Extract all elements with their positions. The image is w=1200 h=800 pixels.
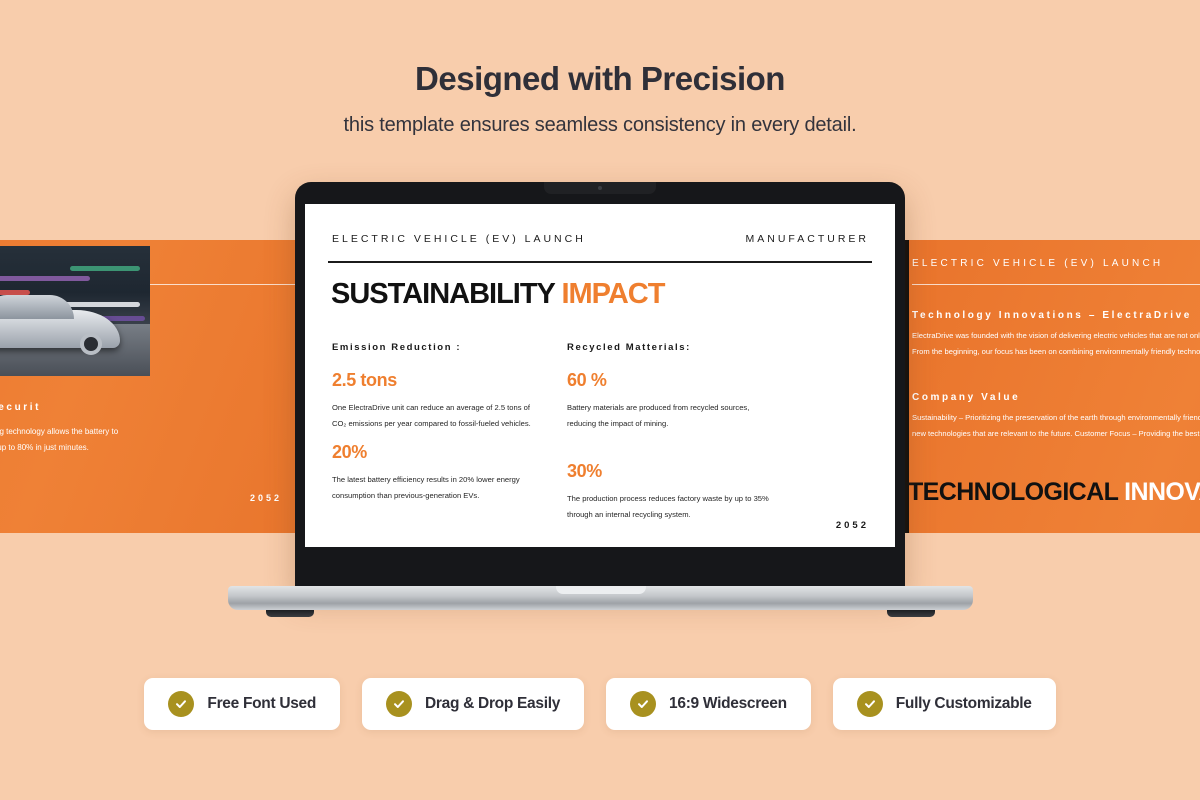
badge-fully-customizable[interactable]: Fully Customizable	[833, 678, 1056, 730]
slide-year: 2052	[836, 520, 869, 531]
slide-left-year: 2052	[250, 493, 282, 503]
right-slide-big-title: TECHNOLOGICAL INNOVATION	[908, 478, 1200, 507]
slide-left-canvas: ELECTRIC VEHICLE (EV) LAUNCH MANUFACTURE…	[0, 240, 300, 533]
hero-section: Designed with Precision this template en…	[0, 0, 1200, 137]
badge-free-font-used[interactable]: Free Font Used	[144, 678, 340, 730]
laptop-foot-left	[266, 610, 314, 617]
badge-label: Fully Customizable	[896, 695, 1032, 713]
laptop-foot-right	[887, 610, 935, 617]
webcam-notch	[544, 182, 656, 194]
laptop-mockup: ELECTRIC VEHICLE (EV) LAUNCH MANUFACTURE…	[295, 182, 905, 590]
right-slide-heading-2: Company Value	[912, 392, 1020, 403]
page-title: Designed with Precision	[0, 60, 1200, 98]
feature-label: Securit	[0, 402, 41, 413]
badge-label: Free Font Used	[207, 695, 316, 713]
photo-car	[0, 310, 120, 348]
stat-value: 60 %	[567, 370, 777, 391]
badge-label: 16:9 Widescreen	[669, 695, 787, 713]
stat-description: Battery materials are produced from recy…	[567, 400, 777, 431]
car-photo	[0, 246, 150, 376]
laptop-base	[228, 586, 973, 610]
background-slide-right: ELECTRIC VEHICLE (EV) LAUNCH Technology …	[900, 240, 1200, 533]
slide-header-divider	[328, 261, 872, 263]
feature-body: Fast-charging technology allows the batt…	[0, 424, 123, 456]
slide-title-main: SUSTAINABILITY	[331, 278, 554, 310]
slide-kicker-right: MANUFACTURER	[745, 233, 869, 245]
stat-value: 30%	[567, 461, 777, 482]
right-slide-heading-1: Technology Innovations – ElectraDrive	[912, 310, 1192, 321]
check-circle-icon	[630, 691, 656, 717]
check-circle-icon	[857, 691, 883, 717]
laptop-screen: ELECTRIC VEHICLE (EV) LAUNCH MANUFACTURE…	[305, 204, 895, 547]
badge-label: Drag & Drop Easily	[425, 695, 560, 713]
slide-right-canvas: ELECTRIC VEHICLE (EV) LAUNCH Technology …	[900, 240, 1200, 533]
slide-title-accent: IMPACT	[561, 278, 664, 310]
stat-column-emission: Emission Reduction : 2.5 tons One Electr…	[332, 342, 532, 503]
stat-description: The production process reduces factory w…	[567, 491, 777, 522]
slide-title: SUSTAINABILITY IMPACT	[331, 278, 664, 311]
check-circle-icon	[168, 691, 194, 717]
column-heading: Recycled Matterials:	[567, 342, 777, 353]
slide-kicker-left: ELECTRIC VEHICLE (EV) LAUNCH	[332, 233, 586, 245]
right-slide-body-2: Sustainability – Prioritizing the preser…	[912, 410, 1200, 442]
feature-badge-row: Free Font Used Drag & Drop Easily 16:9 W…	[0, 678, 1200, 730]
check-circle-icon	[386, 691, 412, 717]
badge-drag-and-drop-easily[interactable]: Drag & Drop Easily	[362, 678, 584, 730]
big-title-black: TECHNOLOGICAL	[908, 478, 1118, 506]
stat-description: One ElectraDrive unit can reduce an aver…	[332, 400, 532, 431]
slide-right-kicker: ELECTRIC VEHICLE (EV) LAUNCH	[912, 258, 1163, 269]
stat-description: The latest battery efficiency results in…	[332, 472, 532, 503]
stat-value: 20%	[332, 442, 532, 463]
badge-16-9-widescreen[interactable]: 16:9 Widescreen	[606, 678, 811, 730]
slide-right-divider	[912, 284, 1200, 285]
column-heading: Emission Reduction :	[332, 342, 532, 353]
stat-column-recycled: Recycled Matterials: 60 % Battery materi…	[567, 342, 777, 522]
right-slide-body-1: ElectraDrive was founded with the vision…	[912, 328, 1200, 360]
background-slide-left: ELECTRIC VEHICLE (EV) LAUNCH MANUFACTURE…	[0, 240, 300, 533]
big-title-white: INNOVATION	[1124, 478, 1200, 506]
page-subtitle: this template ensures seamless consisten…	[0, 114, 1200, 137]
stat-value: 2.5 tons	[332, 370, 532, 391]
laptop-lid: ELECTRIC VEHICLE (EV) LAUNCH MANUFACTURE…	[295, 182, 905, 590]
